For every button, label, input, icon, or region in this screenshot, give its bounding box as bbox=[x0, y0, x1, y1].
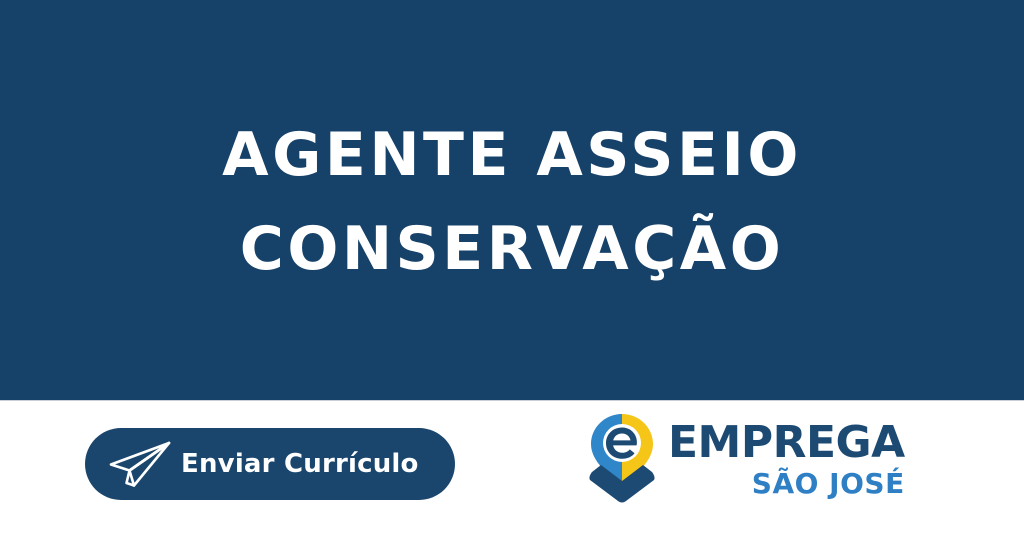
logo-main-text: EMPREGA bbox=[668, 420, 905, 466]
brand-logo[interactable]: EMPREGA SÃO JOSÉ bbox=[586, 412, 926, 512]
send-resume-label: Enviar Currículo bbox=[181, 449, 419, 479]
logo-wordmark: EMPREGA SÃO JOSÉ bbox=[668, 420, 905, 500]
map-pin-e-icon bbox=[586, 412, 658, 504]
job-title-line-2: CONSERVAÇÃO bbox=[240, 202, 784, 296]
bar-divider bbox=[0, 400, 1024, 401]
job-title-line-1: AGENTE ASSEIO bbox=[222, 108, 802, 202]
send-resume-button[interactable]: Enviar Currículo bbox=[85, 428, 455, 500]
logo-sub-text: SÃO JOSÉ bbox=[752, 468, 905, 500]
paper-plane-icon bbox=[107, 440, 173, 488]
hero-banner: AGENTE ASSEIO CONSERVAÇÃO bbox=[0, 0, 1024, 400]
page-canvas: AGENTE ASSEIO CONSERVAÇÃO Enviar Currícu… bbox=[0, 0, 1024, 536]
